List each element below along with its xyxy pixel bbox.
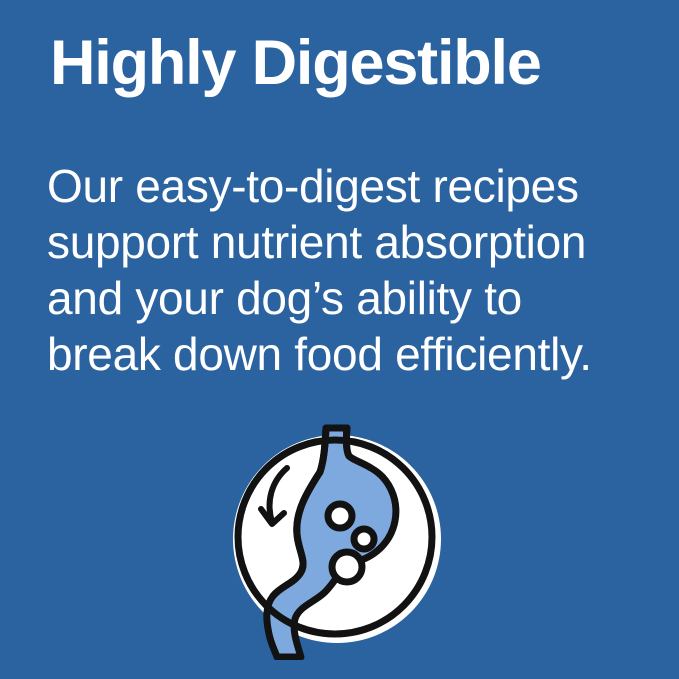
body-line: Our easy-to-digest recipes bbox=[47, 158, 647, 214]
body-line: support nutrient absorption bbox=[47, 214, 647, 270]
food-particle bbox=[332, 552, 362, 582]
food-particle bbox=[328, 504, 352, 528]
page-title: Highly Digestible bbox=[50, 29, 650, 97]
body-copy: Our easy-to-digest recipes support nutri… bbox=[47, 158, 647, 382]
body-line: and your dog’s ability to bbox=[47, 270, 647, 326]
food-particle bbox=[354, 529, 374, 549]
body-line: break down food efficiently. bbox=[47, 326, 647, 382]
stomach-digestion-icon bbox=[225, 420, 455, 660]
promo-card: Highly Digestible Our easy-to-digest rec… bbox=[0, 0, 679, 679]
